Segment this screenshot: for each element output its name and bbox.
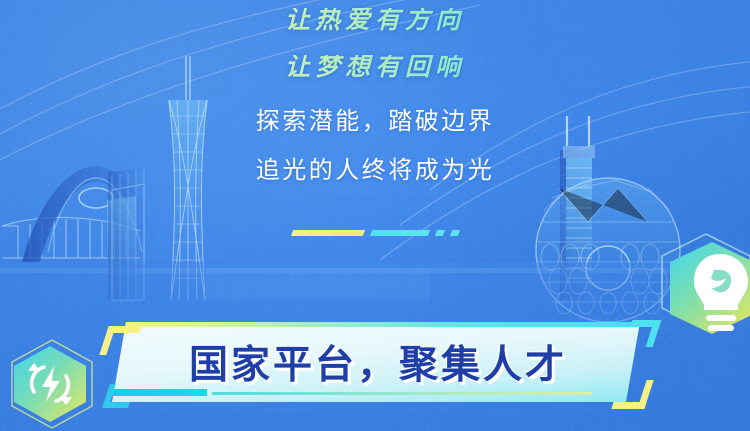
energy-badge [4, 334, 100, 431]
promo-poster: 让热爱有方向 让梦想有回响 探索潜能，踏破边界 追光的人终将成为光 国家平台，聚… [0, 0, 750, 431]
divider-tick-2 [449, 230, 459, 236]
divider-tick-1 [434, 230, 444, 236]
decorative-divider [0, 230, 750, 236]
idea-badge-svg [648, 232, 750, 352]
headline-gradient-line-2: 让梦想有回响 [0, 55, 750, 80]
idea-badge [648, 232, 750, 352]
subheadline-line-1: 探索潜能，踏破边界 [0, 110, 750, 134]
banner-accent-bottom-left [102, 384, 136, 408]
headline-block: 让热爱有方向 让梦想有回响 探索潜能，踏破边界 追光的人终将成为光 [0, 8, 750, 183]
headline-gradient-line-1: 让热爱有方向 [0, 8, 750, 33]
subheadline-line-2: 追光的人终将成为光 [0, 159, 750, 183]
energy-badge-svg [4, 334, 100, 431]
banner-slogan-text: 国家平台，聚集人才 [112, 322, 640, 402]
divider-yellow-bar [290, 230, 364, 236]
divider-cyan-bar [369, 230, 429, 236]
slogan-banner: 国家平台，聚集人才 [112, 322, 640, 402]
